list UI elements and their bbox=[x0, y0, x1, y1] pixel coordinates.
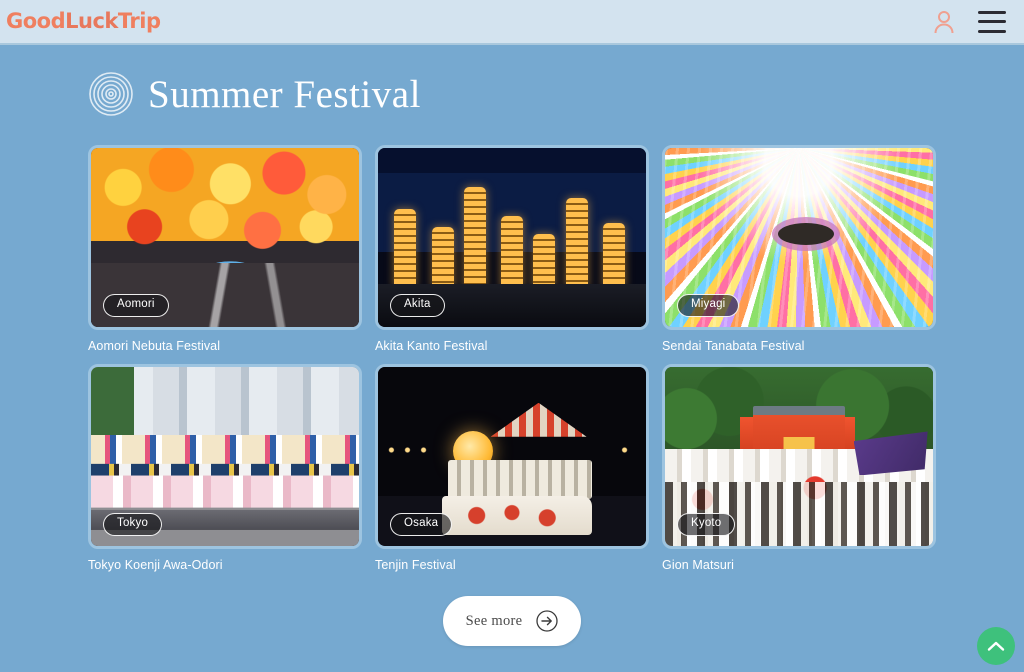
festival-card[interactable]: Osaka Tenjin Festival bbox=[375, 364, 649, 572]
chevron-up-icon bbox=[987, 640, 1005, 652]
card-caption: Aomori Nebuta Festival bbox=[88, 339, 362, 353]
card-thumbnail[interactable]: Tokyo bbox=[88, 364, 362, 549]
page-title-row: Summer Festival bbox=[0, 45, 1024, 117]
site-header: GoodLuckTrip bbox=[0, 0, 1024, 45]
card-thumbnail[interactable]: Miyagi bbox=[662, 145, 936, 330]
card-thumbnail[interactable]: Akita bbox=[375, 145, 649, 330]
card-caption: Gion Matsuri bbox=[662, 558, 936, 572]
scroll-to-top-button[interactable] bbox=[977, 627, 1015, 665]
region-badge: Aomori bbox=[103, 294, 169, 317]
logo-part-trip: Trip bbox=[118, 9, 161, 33]
menu-bar-1 bbox=[978, 11, 1006, 14]
user-icon[interactable] bbox=[932, 9, 956, 35]
festival-card[interactable]: Kyoto Gion Matsuri bbox=[662, 364, 936, 572]
region-badge: Miyagi bbox=[677, 294, 739, 317]
page-title: Summer Festival bbox=[148, 75, 421, 114]
festival-card[interactable]: Tokyo Tokyo Koenji Awa-Odori bbox=[88, 364, 362, 572]
arrow-right-circle-icon bbox=[536, 610, 558, 632]
card-thumbnail[interactable]: Aomori bbox=[88, 145, 362, 330]
see-more-row: See more bbox=[0, 596, 1024, 646]
festival-card-grid: Aomori Aomori Nebuta Festival Akita Akit… bbox=[88, 145, 936, 572]
logo-part-good: Good bbox=[6, 9, 65, 33]
menu-bar-2 bbox=[978, 20, 1006, 23]
region-badge: Tokyo bbox=[103, 513, 162, 536]
card-caption: Tokyo Koenji Awa-Odori bbox=[88, 558, 362, 572]
region-badge: Kyoto bbox=[677, 513, 735, 536]
menu-bar-3 bbox=[978, 30, 1006, 33]
site-logo[interactable]: GoodLuckTrip bbox=[6, 11, 160, 32]
card-thumbnail[interactable]: Kyoto bbox=[662, 364, 936, 549]
festival-card[interactable]: Akita Akita Kanto Festival bbox=[375, 145, 649, 353]
festival-card[interactable]: Aomori Aomori Nebuta Festival bbox=[88, 145, 362, 353]
festival-card[interactable]: Miyagi Sendai Tanabata Festival bbox=[662, 145, 936, 353]
see-more-button[interactable]: See more bbox=[443, 596, 581, 646]
header-actions bbox=[932, 9, 1024, 35]
card-caption: Tenjin Festival bbox=[375, 558, 649, 572]
hamburger-menu-icon[interactable] bbox=[978, 11, 1006, 33]
card-thumbnail[interactable]: Osaka bbox=[375, 364, 649, 549]
card-caption: Akita Kanto Festival bbox=[375, 339, 649, 353]
card-caption: Sendai Tanabata Festival bbox=[662, 339, 936, 353]
spiral-icon bbox=[88, 71, 134, 117]
region-badge: Osaka bbox=[390, 513, 452, 536]
see-more-label: See more bbox=[466, 613, 523, 630]
logo-part-luck: Luck bbox=[65, 9, 118, 33]
region-badge: Akita bbox=[390, 294, 445, 317]
